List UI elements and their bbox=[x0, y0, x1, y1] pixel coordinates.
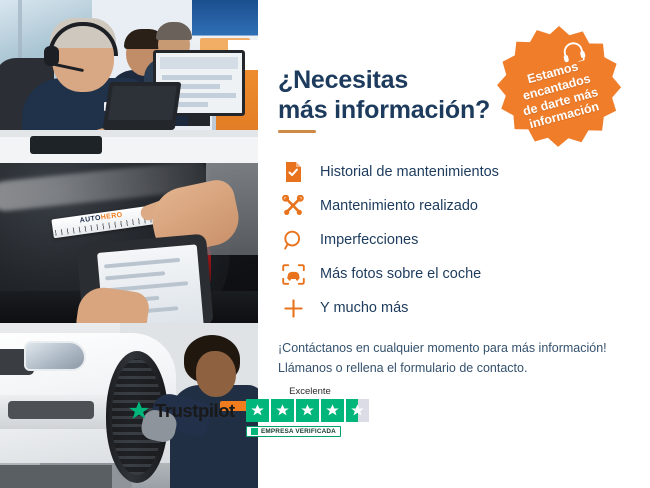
feature-label: Imperfecciones bbox=[320, 232, 418, 248]
document-check-icon bbox=[278, 158, 308, 186]
plus-icon bbox=[278, 294, 308, 322]
photo-inspection: AUTOHERO bbox=[0, 163, 258, 323]
trustpilot-star-icon bbox=[128, 400, 150, 422]
feature-label: Y mucho más bbox=[320, 300, 408, 316]
wrench-screwdriver-icon bbox=[278, 192, 308, 220]
star-box bbox=[271, 399, 294, 422]
photo3-air-inlet bbox=[8, 401, 94, 419]
magnifier-icon bbox=[278, 226, 308, 254]
photo3-lift-platform bbox=[0, 465, 112, 488]
photo-call-centre bbox=[0, 0, 258, 163]
feature-item-fotos: Más fotos sobre el coche bbox=[278, 258, 608, 290]
star-box bbox=[246, 399, 269, 422]
verified-label: EMPRESA VERIFICADA bbox=[261, 428, 336, 435]
contact-copy: ¡Contáctanos en cualquier momento para m… bbox=[278, 338, 638, 379]
photo3-headlight bbox=[24, 341, 86, 371]
feature-item-mas: Y mucho más bbox=[278, 292, 608, 324]
star-box-partial bbox=[346, 399, 369, 422]
photo1-laptop bbox=[103, 82, 182, 130]
star-box bbox=[296, 399, 319, 422]
rating-label: Excelente bbox=[246, 386, 374, 397]
trustpilot-block[interactable]: Trustpilot Excelente EMPRESA VERIFICADA bbox=[128, 386, 378, 448]
car-scan-icon bbox=[278, 260, 308, 288]
feature-list: Historial de mantenimientos M bbox=[278, 156, 608, 326]
trustpilot-rating: Excelente EMPRESA VERIFICADA bbox=[246, 386, 374, 440]
photo1-monitor-stand bbox=[188, 116, 210, 126]
promo-card: AUTOHERO bbox=[0, 0, 650, 488]
star-rating bbox=[246, 399, 374, 422]
trustpilot-logo[interactable]: Trustpilot bbox=[128, 400, 235, 422]
headline-line-1: ¿Necesitas bbox=[278, 66, 408, 94]
star-box bbox=[321, 399, 344, 422]
feature-item-mantenimiento: Mantenimiento realizado bbox=[278, 190, 608, 222]
feature-label: Más fotos sobre el coche bbox=[320, 266, 481, 282]
trustpilot-wordmark: Trustpilot bbox=[155, 400, 235, 422]
contact-line-2: Llámanos o rellena el formulario de cont… bbox=[278, 358, 638, 379]
badge-text: Estamos encantados de darte más informac… bbox=[495, 22, 623, 150]
feature-item-imperfecciones: Imperfecciones bbox=[278, 224, 608, 256]
feature-label: Historial de mantenimientos bbox=[320, 164, 499, 180]
verified-check-icon bbox=[251, 428, 258, 435]
feature-item-historial: Historial de mantenimientos bbox=[278, 156, 608, 188]
photo1-tablet bbox=[30, 136, 102, 154]
contact-line-1: ¡Contáctanos en cualquier momento para m… bbox=[278, 341, 607, 355]
feature-label: Mantenimiento realizado bbox=[320, 198, 478, 214]
info-badge: Estamos encantados de darte más informac… bbox=[495, 22, 623, 150]
title-divider bbox=[278, 130, 316, 133]
verified-badge: EMPRESA VERIFICADA bbox=[246, 426, 341, 437]
